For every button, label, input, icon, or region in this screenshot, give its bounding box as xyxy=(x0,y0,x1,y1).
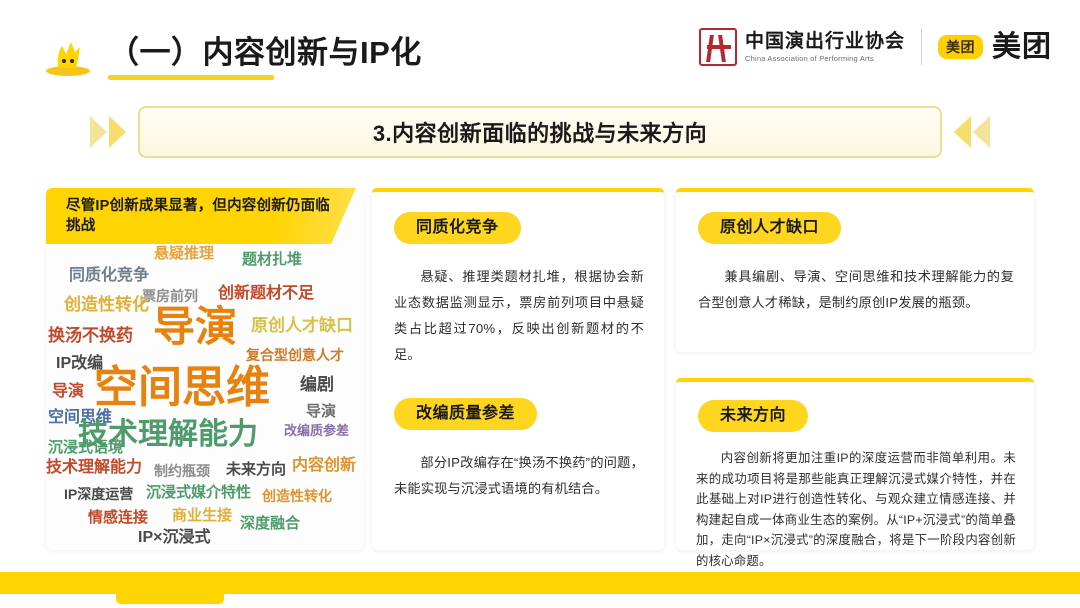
capa-logo-cn: 中国演出行业协会 xyxy=(745,31,905,53)
capa-logo-en: China Association of Performing Arts xyxy=(745,53,905,64)
wordcloud-term: 题材扎堆 xyxy=(242,252,302,267)
meituan-name: 美团 xyxy=(992,31,1052,63)
wordcloud-term: 创新题材不足 xyxy=(218,286,314,302)
card-title-talent-gap: 原创人才缺口 xyxy=(698,212,841,244)
meituan-badge: 美团 xyxy=(938,35,983,59)
wordcloud-term: 沉浸式语境 xyxy=(48,440,123,455)
chevrons-right xyxy=(954,116,990,148)
chevrons-left xyxy=(90,116,126,148)
wordcloud-term: 同质化竞争 xyxy=(69,268,149,284)
logo-divider xyxy=(921,29,922,65)
subtitle-text: 3.内容创新面临的挑战与未来方向 xyxy=(373,116,707,148)
card-body-homogenization: 悬疑、推理类题材扎堆，根据协会新业态数据监测显示，票房前列项目中悬疑类占比超过7… xyxy=(394,264,644,368)
wordcloud-term: IP×沉浸式 xyxy=(138,530,210,546)
wordcloud-term: 导演 xyxy=(153,306,237,348)
chevron-left-icon xyxy=(954,116,971,148)
logo-group: 中国演出行业协会 China Association of Performing… xyxy=(699,28,1052,66)
seal-icon xyxy=(699,28,737,66)
chevron-right-icon xyxy=(90,116,107,148)
wordcloud-panel-header: 尽管IP创新成果显著，但内容创新仍面临挑战 xyxy=(46,188,356,244)
wordcloud-term: 制约瓶颈 xyxy=(154,464,210,478)
bottom-bar xyxy=(0,572,1080,594)
content-area: 尽管IP创新成果显著，但内容创新仍面临挑战 悬疑推理题材扎堆同质化竞争票房前列创… xyxy=(0,180,1080,558)
subtitle-box: 3.内容创新面临的挑战与未来方向 xyxy=(138,106,942,158)
wordcloud-term: 换汤不换药 xyxy=(48,327,133,344)
wordcloud-panel: 尽管IP创新成果显著，但内容创新仍面临挑战 悬疑推理题材扎堆同质化竞争票房前列创… xyxy=(46,188,364,550)
wordcloud-term: 悬疑推理 xyxy=(154,246,214,261)
card-title-adaptation-quality: 改编质量参差 xyxy=(394,398,537,430)
wordcloud-term: 创造性转化 xyxy=(262,489,332,503)
card-future-direction: 未来方向 内容创新将更加注重IP的深度运营而非简单利用。未来的成功项目将是那些能… xyxy=(676,378,1034,550)
page-title: （一）内容创新与IP化 xyxy=(108,33,422,73)
wordcloud-term: IP深度运营 xyxy=(64,487,133,501)
wordcloud-term: 改编质参差 xyxy=(284,424,349,437)
wordcloud-term: 沉浸式媒介特性 xyxy=(146,485,251,500)
chevron-right-icon xyxy=(109,116,126,148)
wordcloud-term: 复合型创意人才 xyxy=(246,348,344,362)
wordcloud-term: 技术理解能力 xyxy=(46,460,142,476)
slide-root: （一）内容创新与IP化 中国演出行业协会 China Association o… xyxy=(0,0,1080,608)
bottom-bar-tab xyxy=(116,592,224,604)
subtitle-banner: 3.内容创新面临的挑战与未来方向 xyxy=(90,104,990,160)
wordcloud-term: 创造性转化 xyxy=(64,296,149,313)
wordcloud-term: 未来方向 xyxy=(226,462,286,477)
wordcloud-term: 空间思维 xyxy=(94,366,270,410)
chevron-left-icon xyxy=(973,116,990,148)
wordcloud-term: 深度融合 xyxy=(240,516,300,531)
meituan-logo: 美团 美团 xyxy=(938,31,1052,63)
wordcloud-term: 编剧 xyxy=(300,376,334,393)
title-underline xyxy=(108,75,274,80)
page-title-wrap: （一）内容创新与IP化 xyxy=(108,33,422,73)
wordcloud-term: 情感连接 xyxy=(88,510,148,525)
card-challenges-left: 同质化竞争 悬疑、推理类题材扎堆，根据协会新业态数据监测显示，票房前列项目中悬疑… xyxy=(372,188,664,550)
card-talent-gap: 原创人才缺口 兼具编剧、导演、空间思维和技术理解能力的复合型创意人才稀缺，是制约… xyxy=(676,188,1034,352)
wordcloud: 悬疑推理题材扎堆同质化竞争票房前列创新题材不足创造性转化导演原创人才缺口换汤不换… xyxy=(46,244,364,544)
card-body-adaptation-quality: 部分IP改编存在“换汤不换药”的问题，未能实现与沉浸式语境的有机结合。 xyxy=(394,450,644,502)
capa-logo: 中国演出行业协会 China Association of Performing… xyxy=(699,28,905,66)
yellow-mascot-icon xyxy=(44,38,92,76)
wordcloud-term: 原创人才缺口 xyxy=(251,317,353,334)
wordcloud-panel-header-text: 尽管IP创新成果显著，但内容创新仍面临挑战 xyxy=(66,196,342,236)
wordcloud-term: 内容创新 xyxy=(292,458,356,474)
card-body-talent-gap: 兼具编剧、导演、空间思维和技术理解能力的复合型创意人才稀缺，是制约原创IP发展的… xyxy=(698,264,1014,316)
wordcloud-term: 导演 xyxy=(306,404,336,419)
card-body-future-direction: 内容创新将更加注重IP的深度运营而非简单利用。未来的成功项目将是那些能真正理解沉… xyxy=(696,448,1016,571)
card-title-future-direction: 未来方向 xyxy=(698,400,808,432)
wordcloud-term: 票房前列 xyxy=(142,289,198,303)
slide-header: （一）内容创新与IP化 中国演出行业协会 China Association o… xyxy=(0,0,1080,95)
wordcloud-term: 商业生接 xyxy=(172,508,232,523)
card-title-homogenization: 同质化竞争 xyxy=(394,212,521,244)
wordcloud-term: 导演 xyxy=(52,384,84,400)
